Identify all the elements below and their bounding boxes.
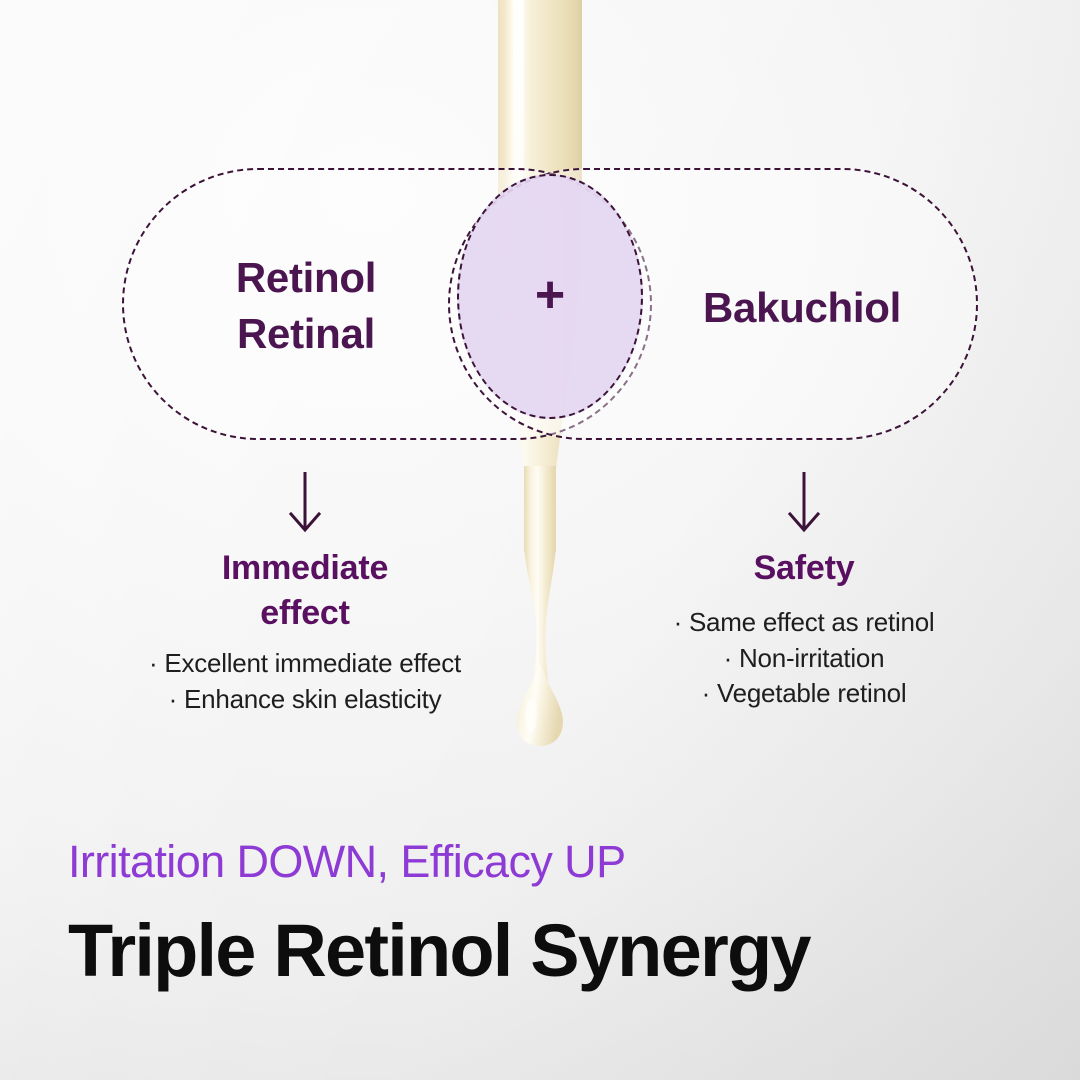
page-title: Triple Retinol Synergy [68, 910, 1028, 993]
benefit-column-immediate-effect: Immediate effect · Excellent immediate e… [95, 470, 515, 718]
list-item: · Non-irritation [620, 641, 988, 677]
benefit-title: Immediate effect [95, 546, 515, 636]
list-item: · Excellent immediate effect [95, 646, 515, 682]
arrow-down-icon [620, 470, 988, 546]
list-item: · Same effect as retinol [620, 605, 988, 641]
list-item: · Vegetable retinol [620, 676, 988, 712]
kicker-text: Irritation DOWN, Efficacy UP [68, 836, 1028, 888]
ingredient-label-retinol: Retinol Retinal [146, 250, 466, 362]
headline-block: Irritation DOWN, Efficacy UP Triple Reti… [68, 836, 1028, 993]
benefit-list: · Excellent immediate effect · Enhance s… [95, 646, 515, 717]
product-infographic: + Retinol Retinal Bakuchiol Immediate ef… [0, 0, 1080, 1080]
ingredient-label-bakuchiol: Bakuchiol [632, 280, 972, 336]
benefit-list: · Same effect as retinol · Non-irritatio… [620, 605, 988, 712]
benefit-column-safety: Safety · Same effect as retinol · Non-ir… [620, 470, 988, 712]
arrow-down-icon [95, 470, 515, 546]
benefit-title: Safety [620, 546, 988, 591]
list-item: · Enhance skin elasticity [95, 682, 515, 718]
